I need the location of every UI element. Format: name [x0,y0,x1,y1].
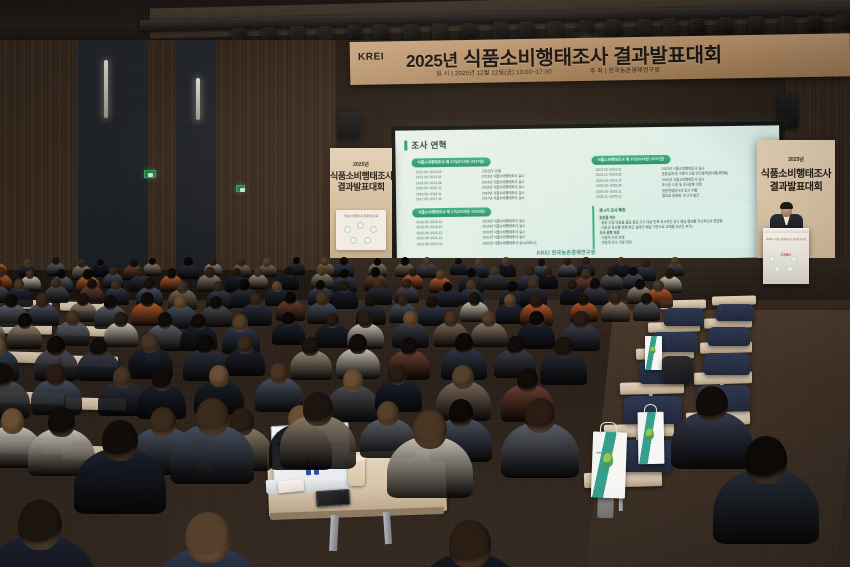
tote-logo-icon [645,428,655,441]
seat-back [664,308,704,326]
audience-member-head [104,295,117,310]
tote-logo-icon [650,346,656,354]
audience-member-head [285,292,296,305]
slide-history-row: 2022.05~2022.122022년 식품소비행태조사 실시(코로나) [417,240,537,247]
standing-banner-right-year: 2025년 [757,156,835,163]
audience-member-head [401,257,409,266]
audience-member-head [302,337,319,356]
standing-banner-left-year: 2025년 [330,161,392,168]
audience-member-head [270,363,289,385]
smartphone[interactable] [315,489,350,507]
slide-section-rows-3: 2023.03~2023.122023년 식품소비행태조사 실시2023.12~… [596,166,729,200]
tote-bag-handle [600,422,617,434]
wall-wood-panel-left [0,40,78,270]
audience-member-head [349,334,366,353]
audience-member-head [97,259,104,267]
wall-light-strip-1 [104,60,108,118]
audience-member-head [449,399,473,426]
tote-logo-icon [602,452,614,468]
slide-section-heading-2: 식품소비행태조사 제 2기(2018년~2022년) [412,207,491,217]
wall-dark-panel-a [78,40,148,270]
audience-member-head [402,279,411,290]
podium-top [763,228,809,233]
audience-member-head [284,267,293,277]
audience-member-head [525,398,556,433]
slide-footer-logo: KREI 한국농촌경제연구원 [537,249,596,257]
audience-member-head [581,269,591,280]
audience-member-head [578,294,589,306]
podium-dot-icon [769,256,775,262]
slide-section-heading-1: 식품소비행태조사 제 1기(2013년~2017년) [411,157,490,167]
audience-member-head [607,267,616,277]
backpack [662,356,692,382]
banner-dot-icon [357,222,364,229]
audience-member-head [174,295,187,310]
standing-banner-right-line2: 결과발표대회 [757,178,835,193]
audience-member-head [197,335,214,355]
slide-history-text: 2022년 식품소비행태조사 실시(코로나) [483,240,537,246]
audience-member-head [109,267,117,276]
speaker-hair [780,202,793,209]
audience-member-head [232,268,241,278]
slide-title: 조사 연혁 [411,139,447,151]
wall-wood-panel-c [216,40,336,270]
audience-member-head [449,520,492,567]
slide-history-text: 원자료 정제화, 보고서 발간 [662,193,699,199]
slide-history-row: 2017.03~2017.122017년 식품소비행태조사 실시 [416,196,525,203]
audience-member-head [196,398,229,436]
audience-member-head [113,367,132,388]
exit-sign-left [144,170,156,178]
audience-member-head [343,369,363,392]
audience-member-head [90,338,107,357]
audience-member-head [263,258,270,267]
audience-member-head [18,313,32,329]
audience-member-head [635,279,645,290]
audience-member-head [239,279,250,292]
standing-banner-left-card-text: 식품소비행태조사 결과발표대회 [336,214,386,218]
audience-member-head [1,408,24,434]
conference-photo-scene: KREI 2025년 식품소비행태조사 결과발표대회 일 시 | 2025년 1… [0,0,850,567]
slide-section-heading-3: 식품소비행태조사 제 3기(2023년~2027년) [591,155,670,165]
audience-member-head [444,312,458,328]
slide-history-date: 2022.05~2022.12 [417,241,473,247]
slide-highlight-heading: 제 3기 조사 특징 [599,207,765,214]
audience-member-head [209,258,216,266]
audience-member-head [529,311,544,328]
audience-member-head [491,266,500,277]
podium-logo: KREI [781,252,791,257]
audience-member-head [184,257,192,266]
banner-dot-icon [370,226,377,233]
audience-member-head [191,314,206,331]
projection-screen: 조사 연혁 식품소비행태조사 제 1기(2013년~2017년) 2012.09… [391,121,785,266]
audience-member-head [209,365,229,387]
audience-member-head [413,410,447,449]
audience-member-head [78,259,86,268]
audience-member-head [745,436,787,484]
audience-member-head [401,337,418,356]
banner-datetime: 일 시 | 2025년 12월 12일(금) 13:00~17:00 [436,69,552,77]
audience-member-head [339,281,350,293]
audience-member-head [443,282,453,293]
audience-member-head [517,368,538,391]
audience-member-head [111,280,121,291]
audience-member-head [568,280,577,291]
wall-light-strip-2 [196,78,200,120]
audience-member-head [374,279,384,291]
audience-member-head [77,293,88,306]
audience-member-head [502,257,510,266]
audience-member-head [66,310,80,326]
audience-member-head [377,401,399,426]
audience-member-head [177,281,188,294]
slide-history-row: 2025.11~2025.12원자료 정제화, 보고서 발간 [596,193,729,200]
tote-brand-label: KREI [596,451,602,454]
krei-logo-banner: KREI [358,51,384,62]
podium-dot-icon [787,266,793,272]
audience-member-head [293,257,300,265]
audience-member-head [24,259,31,267]
audience-member-head [469,292,481,305]
seat-back [708,327,750,346]
audience-member-head [316,280,325,291]
audience-member-head [87,279,97,290]
wall-wood-panel-b [148,40,176,270]
audience-member-head [554,337,572,358]
banner-dot-icon [364,237,371,244]
audience-member-head [629,267,638,277]
slide-highlight-box: 제 3기 조사 특징 표본틀 개선· 동분 인접 비용을 줄일 동일 가구 대상… [592,203,771,248]
tote-bag [645,336,662,370]
audience-member-head [254,268,262,277]
main-stage-banner: KREI 2025년 식품소비행태조사 결과발표대회 일 시 | 2025년 1… [350,33,850,85]
audience-member-head [371,267,380,277]
audience-member-head [530,294,543,308]
audience-member-head [238,258,245,266]
audience-member-head [210,296,222,310]
audience-member-head [47,336,64,356]
audience-member-head [482,311,496,327]
standing-banner-left-line2: 결과발표대회 [330,180,392,193]
audience-member-head [617,257,625,266]
audience-member-head [582,257,589,265]
podium-dot-icon [791,256,797,262]
audience-member-head [141,292,154,307]
audience-member-head [36,293,49,308]
audience-member-head [102,420,138,461]
audience-member-head [466,280,475,291]
podium-dot-icon [774,266,780,272]
audience-member-head [52,257,59,265]
audience-member-head [167,268,176,278]
slide-highlight-line: · 연령적 조사 기반 마련 [600,239,766,246]
tote-bag-handle [644,404,657,414]
audience-member-head [374,258,381,266]
audience-member-head [303,392,333,426]
audience-member-head [237,336,253,354]
audience-member-head [114,312,128,327]
seat-back [716,304,754,321]
audience-member-head [590,278,600,290]
audience-member-head [467,268,477,279]
banner-dot-icon [344,226,351,233]
wall-speaker-left [338,112,360,138]
audience-member-head [455,333,473,354]
audience-member-head [455,258,462,266]
audience-member-head [158,312,173,329]
audience-member-head [14,279,25,291]
wall-dark-panel-b [176,40,216,270]
audience-member-head [475,258,483,267]
slide-section-rows-1: 2012.09~2013.03기초연구 수행2013.03~2013.03201… [416,169,525,203]
audience-member-head [452,365,474,390]
audience-member-head [426,296,437,309]
audience-member-head [409,268,417,277]
audience-member-head [48,407,74,437]
slide-highlight-groups: 표본틀 개선· 동분 인접 비용을 줄일 동일 가구 대상 반복 조사적인 유사… [599,214,765,246]
slide-section-rows-2: 2018.05~2018.122018년 식품소비행태조사 실시2019.05~… [416,219,536,248]
audience-member-head [18,500,62,550]
audience-member-head [0,267,5,277]
audience-member-head [641,293,652,305]
audience-member-head [525,266,535,277]
audience-member-head [282,312,295,327]
standing-banner-left: 2025년 식품소비행태조사 결과발표대회 식품소비행태조사 결과발표대회 [330,148,392,266]
audience-member-head [340,257,348,266]
audience-member-head [205,267,215,278]
slide-history-text: 2017년 식품소비행태조사 실시 [482,196,525,202]
audience-member-head [316,292,328,306]
presentation-slide: 조사 연혁 식품소비행태조사 제 1기(2013년~2017년) 2012.09… [395,125,781,262]
audience-member-head [321,257,329,266]
audience-member-head [696,386,728,422]
audience-member-head [272,281,282,292]
slide-history-date: 2025.11~2025.12 [596,194,652,200]
audience-member-head [46,364,66,387]
banner-host: 주 최 | 한국농촌경제연구원 [590,68,660,75]
audience-member-head [573,311,588,328]
audience-member-head [233,314,248,331]
audience-member-head [671,257,678,265]
audience-member-head [403,311,417,327]
seat-back [704,353,750,375]
podium: 2025년 식품소비행태조사 결과발표대회 KREI [763,228,809,284]
audience-member-head [507,336,523,355]
audience-member-head [507,281,518,293]
audience-member-head [436,270,445,280]
audience-member-head [642,259,650,268]
audience-member-head [5,294,18,308]
exit-sign-right [236,185,245,192]
audience-member-head [149,258,156,266]
audience-member-head [544,268,552,277]
standing-banner-left-card: 식품소비행태조사 결과발표대회 [336,210,386,250]
podium-text: 2025년 식품소비행태조사 결과발표대회 [763,237,809,241]
tote-bag [638,412,665,464]
audience-member-head [152,368,172,390]
audience-member-head [504,294,516,307]
slide-history-date: 2017.03~2017.12 [416,197,472,203]
audience-member-head [358,311,373,328]
audience-member-head [185,512,230,563]
banner-dot-icon [350,237,357,244]
audience-member-head [130,259,138,268]
audience-member-head [665,268,675,279]
audience-member-head [150,407,176,437]
audience-member-head [365,295,377,308]
audience-member-head [141,333,159,353]
audience-member-head [528,278,539,290]
tote-bag: KREI [591,431,627,498]
